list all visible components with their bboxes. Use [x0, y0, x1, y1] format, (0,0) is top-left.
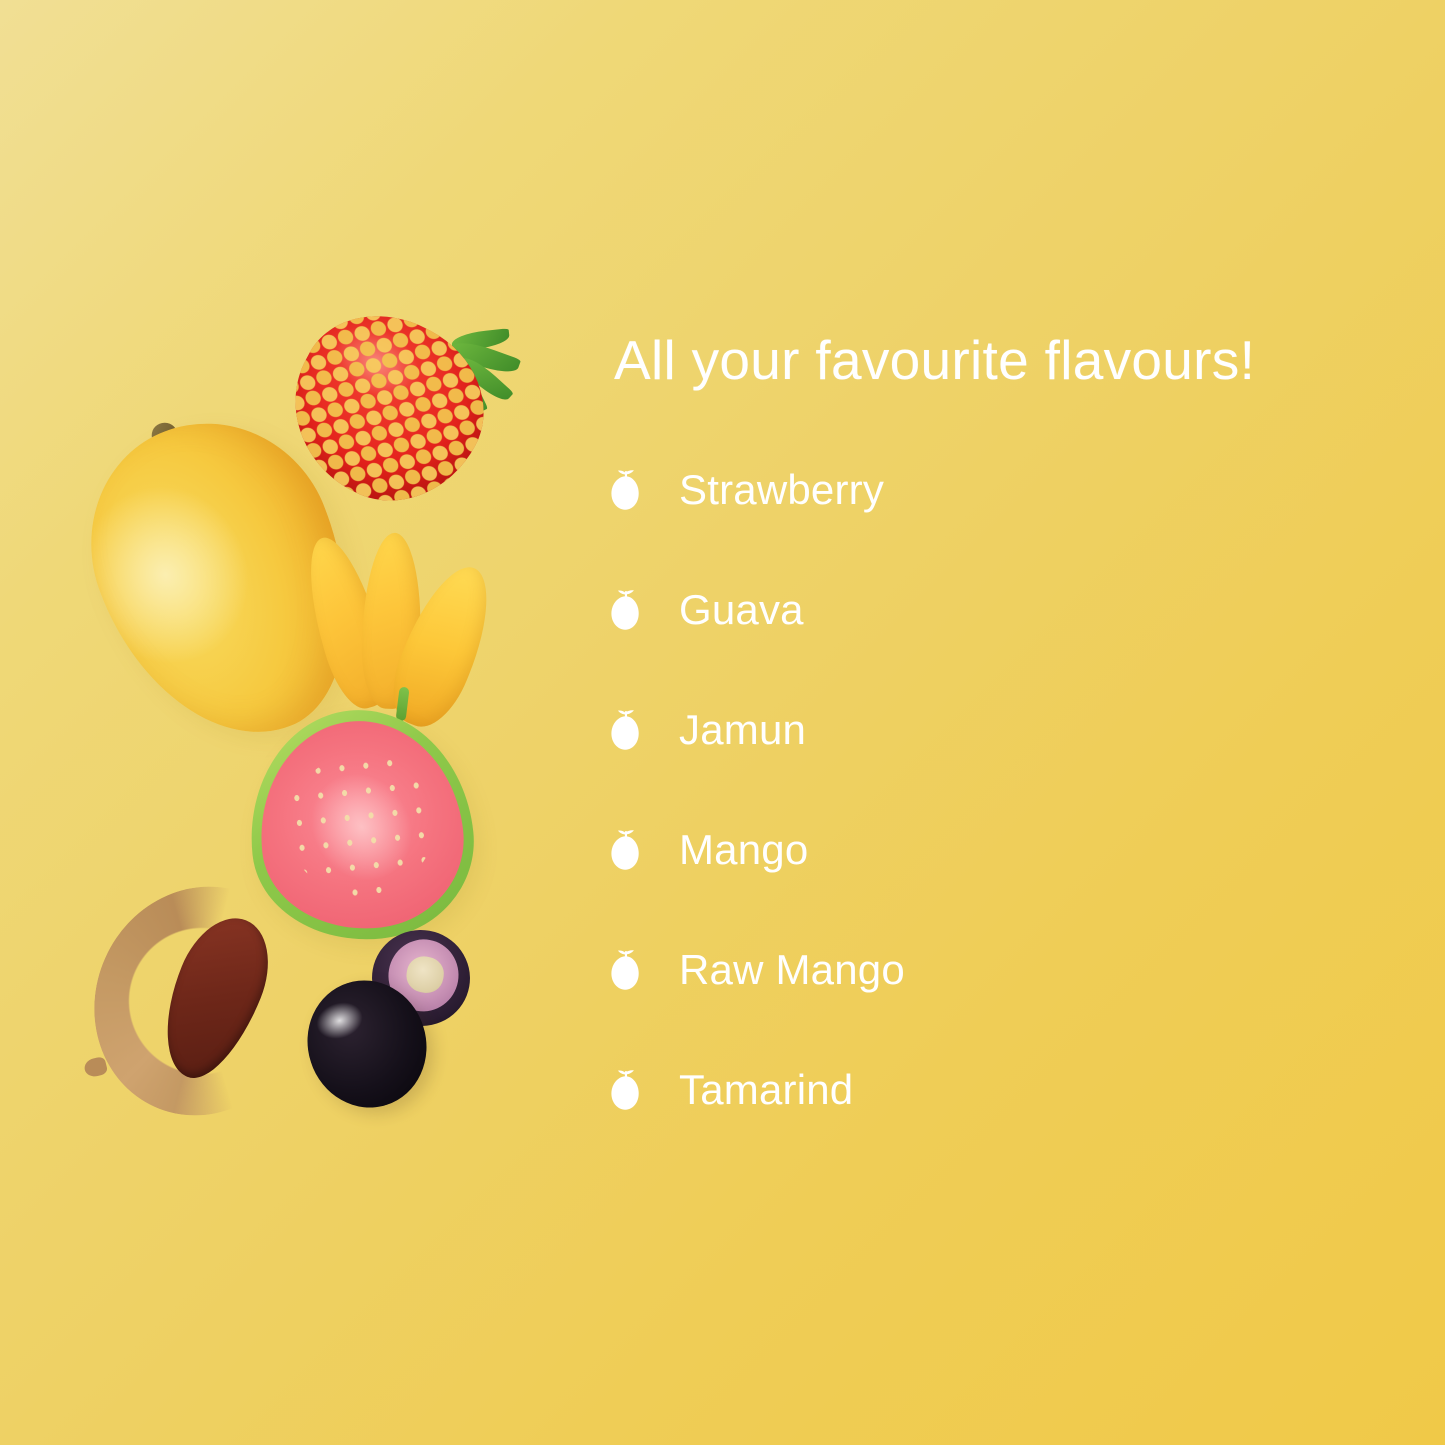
list-item: Tamarind — [608, 1061, 1368, 1119]
guava-icon — [608, 707, 642, 753]
tamarind-tip — [83, 1056, 109, 1079]
text-column: All your favourite flavours! Strawberry … — [608, 330, 1368, 1119]
guava-icon — [608, 827, 642, 873]
guava-icon — [608, 947, 642, 993]
list-item: Raw Mango — [608, 941, 1368, 999]
flavour-label: Raw Mango — [679, 949, 905, 991]
guava-icon — [608, 1067, 642, 1113]
tamarind-pod-image — [84, 875, 319, 1128]
flavour-label: Tamarind — [679, 1069, 853, 1111]
fruit-composition — [0, 0, 560, 1445]
flavour-label: Jamun — [679, 709, 806, 751]
list-item: Strawberry — [608, 461, 1368, 519]
list-item: Jamun — [608, 701, 1368, 759]
mango-slices-image — [338, 508, 498, 708]
flavour-label: Strawberry — [679, 469, 884, 511]
guava-icon — [608, 587, 642, 633]
flavour-label: Mango — [679, 829, 808, 871]
page-title: All your favourite flavours! — [614, 330, 1368, 391]
flavour-label: Guava — [679, 589, 804, 631]
guava-icon — [608, 467, 642, 513]
guava-core — [290, 754, 432, 901]
flavour-list: Strawberry Guava Jamun — [608, 461, 1368, 1119]
flavours-poster: All your favourite flavours! Strawberry … — [0, 0, 1445, 1445]
list-item: Mango — [608, 821, 1368, 879]
list-item: Guava — [608, 581, 1368, 639]
